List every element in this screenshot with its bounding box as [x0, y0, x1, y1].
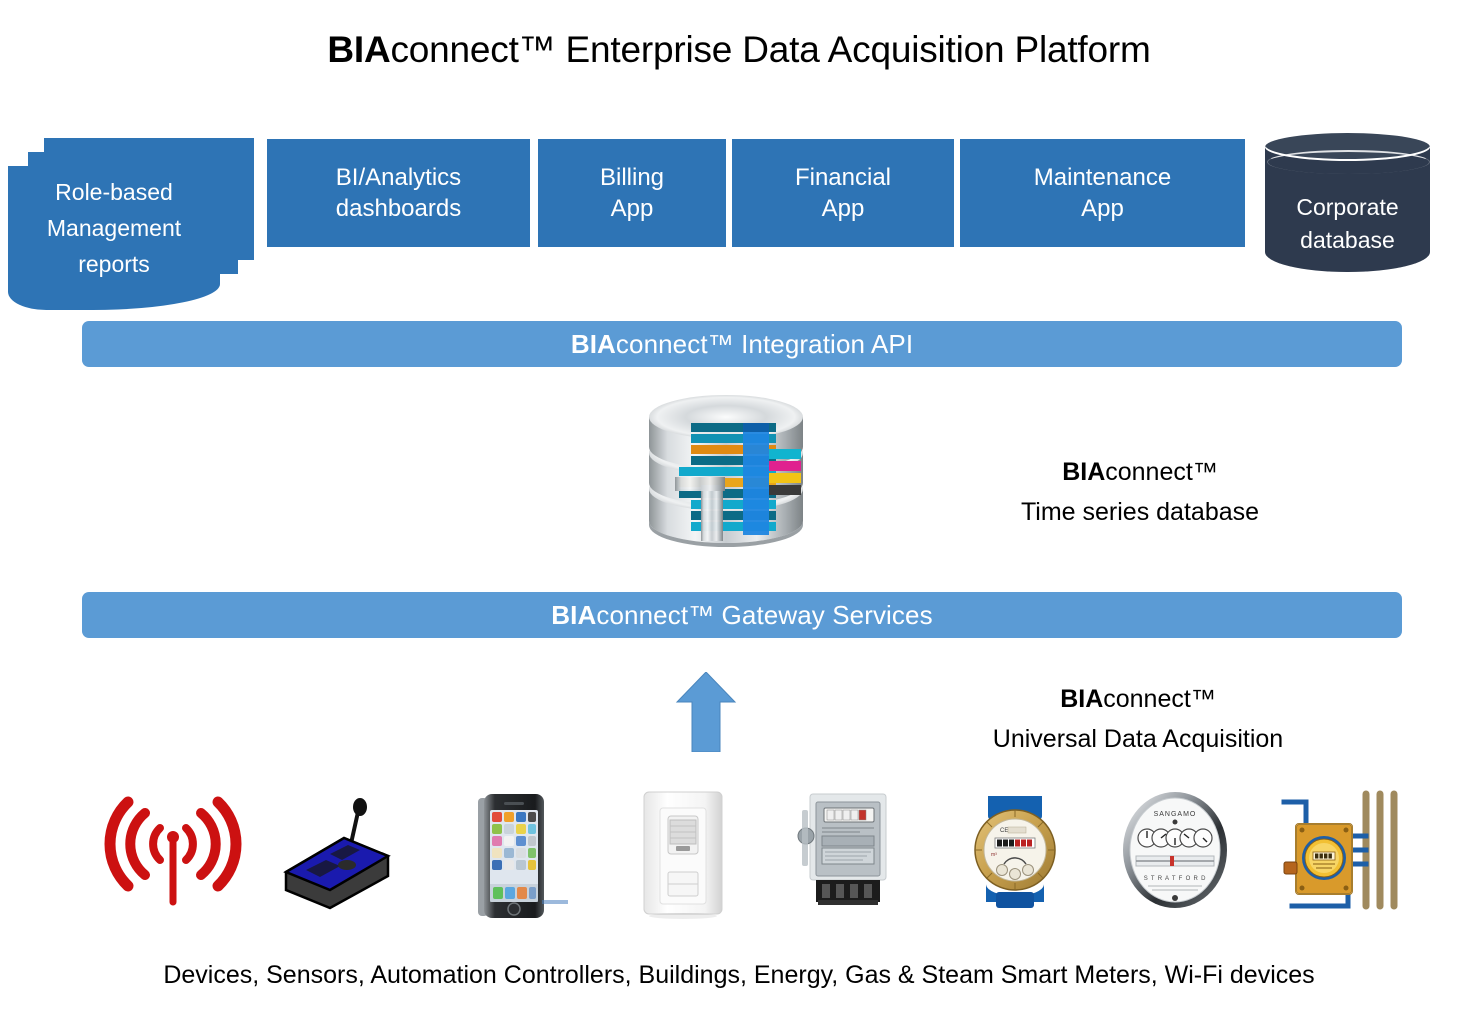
occupancy-sensor-switch-icon — [608, 780, 758, 925]
tsdb-bold: BIA — [1062, 458, 1105, 486]
gateway-services-bar[interactable]: BIAconnect™ Gateway Services — [82, 592, 1402, 638]
reports-line-2: Management — [8, 210, 220, 246]
financial-line-1: Financial — [795, 162, 891, 193]
cylinder-cap-highlight — [1267, 150, 1430, 174]
app-box-billing-app[interactable]: Billing App — [538, 139, 726, 247]
svg-text:CE: CE — [1000, 828, 1008, 834]
water-meter-icon: CE m³ — [940, 780, 1090, 925]
page-title-bold: BIA — [327, 29, 390, 70]
tsdb-brand-line: BIAconnect™ — [975, 452, 1305, 492]
corporate-database-label: Corporate database — [1265, 191, 1430, 257]
gateway-bold: BIA — [551, 600, 596, 631]
svg-text:SANGAMO: SANGAMO — [1154, 811, 1197, 818]
corp-db-line-2: database — [1265, 224, 1430, 257]
tsdb-line-2: Time series database — [975, 492, 1305, 532]
bottom-caption: Devices, Sensors, Automation Controllers… — [0, 958, 1478, 992]
time-series-database-caption: BIAconnect™ Time series database — [975, 452, 1305, 532]
data-flow-up-arrow-icon — [675, 672, 737, 752]
uda-bold: BIA — [1060, 685, 1103, 713]
bi-line-1: BI/Analytics — [336, 162, 461, 193]
role-based-reports-stack[interactable]: Role-based Management reports — [8, 138, 258, 293]
corporate-database-cylinder[interactable]: Corporate database — [1265, 133, 1430, 285]
universal-data-acquisition-caption: BIAconnect™ Universal Data Acquisition — [938, 679, 1338, 759]
billing-line-1: Billing — [600, 162, 664, 193]
integration-api-bar[interactable]: BIAconnect™ Integration API — [82, 321, 1402, 367]
svg-text:m³: m³ — [991, 852, 997, 858]
reports-line-1: Role-based — [8, 174, 220, 210]
integration-api-bold: BIA — [571, 329, 616, 360]
tsdb-rest: connect™ — [1105, 458, 1218, 486]
app-box-maintenance-app[interactable]: Maintenance App — [960, 139, 1245, 247]
app-box-financial-app[interactable]: Financial App — [732, 139, 954, 247]
integration-api-rest: connect™ Integration API — [616, 329, 913, 360]
uda-brand-line: BIAconnect™ — [938, 679, 1338, 719]
diagram-canvas: BIAconnect™ Enterprise Data Acquisition … — [0, 0, 1478, 1023]
uda-rest: connect™ — [1103, 685, 1216, 713]
rf-remote-device-icon — [268, 780, 418, 925]
app-box-bi-analytics-dashboards[interactable]: BI/Analytics dashboards — [267, 139, 530, 247]
maintenance-line-2: App — [1034, 193, 1171, 224]
analog-electric-meter-icon: SANGAMO S T R — [1100, 780, 1250, 925]
maintenance-line-1: Maintenance — [1034, 162, 1171, 193]
electricity-meter-icon — [772, 780, 922, 925]
svg-text:S T R A T F O R D: S T R A T F O R D — [1144, 876, 1207, 882]
role-based-reports-label: Role-based Management reports — [8, 174, 220, 282]
gas-meter-icon — [1262, 780, 1412, 925]
billing-line-2: App — [600, 193, 664, 224]
financial-line-2: App — [795, 193, 891, 224]
smartphone-icon — [438, 780, 588, 925]
bi-line-2: dashboards — [336, 193, 461, 224]
page-title-rest: connect™ Enterprise Data Acquisition Pla… — [390, 29, 1150, 70]
uda-line-2: Universal Data Acquisition — [938, 719, 1338, 759]
time-series-database-icon — [631, 389, 821, 559]
wireless-signal-icon — [98, 780, 248, 925]
corp-db-line-1: Corporate — [1265, 191, 1430, 224]
gateway-rest: connect™ Gateway Services — [596, 600, 932, 631]
page-title: BIAconnect™ Enterprise Data Acquisition … — [0, 28, 1478, 72]
reports-line-3: reports — [8, 246, 220, 282]
